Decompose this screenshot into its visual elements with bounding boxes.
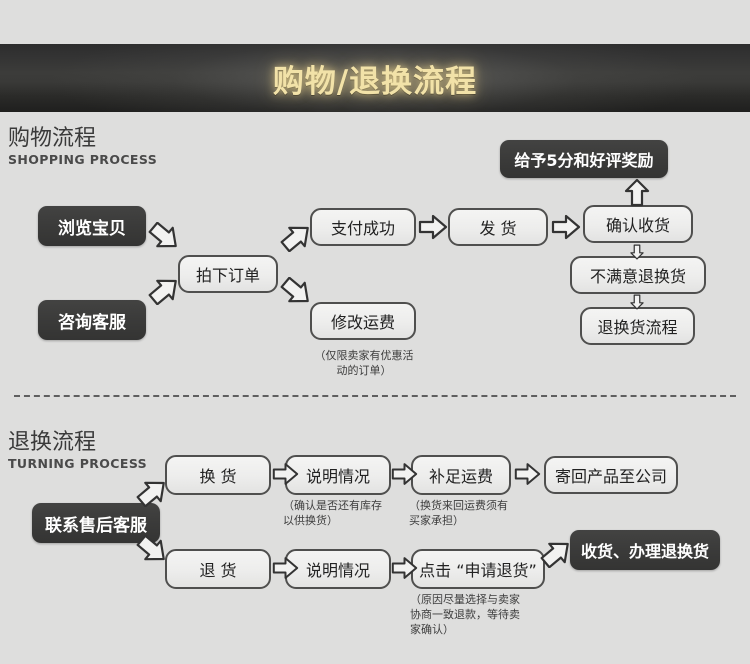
section-heading-shopping-cn: 购物流程 <box>8 126 157 152</box>
arrow-freight-to-sendback-icon <box>514 461 541 487</box>
node-explain-situation-return[interactable]: 说明情况 <box>285 549 391 589</box>
node-return-exchange-flow[interactable]: 退换货流程 <box>580 307 695 345</box>
arrow-exchange-to-explain-icon <box>272 461 299 487</box>
arrow-order-to-modify-freight-icon <box>280 277 314 307</box>
node-give-five-star-reward-label: 给予5分和好评奖励 <box>514 147 653 171</box>
note-explain-situation-exchange: （确认是否还有库存以供换货） <box>283 498 409 528</box>
node-dissatisfied-return-label: 不满意退换货 <box>590 263 686 287</box>
arrow-browse-to-order-icon <box>148 222 182 252</box>
arrow-order-to-pay-icon <box>280 222 314 252</box>
page-header-banner: 购物/退换流程 <box>0 44 750 112</box>
node-explain-situation-exchange[interactable]: 说明情况 <box>285 455 391 495</box>
page-title: 购物/退换流程 <box>273 56 477 101</box>
arrow-return-to-explain-icon <box>272 555 299 581</box>
arrow-confirm-to-dissatisfied-icon <box>623 244 651 260</box>
note-supplement-freight: （换货来回运费须有买家承担） <box>409 498 541 528</box>
node-send-back-to-company-label: 寄回产品至公司 <box>555 463 667 487</box>
arrow-explain-to-apply-icon <box>391 555 418 581</box>
node-place-order-label: 拍下订单 <box>196 262 260 286</box>
node-explain-situation-return-label: 说明情况 <box>306 557 370 581</box>
node-return-goods-label: 退 货 <box>199 557 236 581</box>
node-browse-item[interactable]: 浏览宝贝 <box>38 206 146 246</box>
section-heading-shopping-en: SHOPPING PROCESS <box>8 152 157 167</box>
arrow-consult-to-order-icon <box>148 275 182 305</box>
arrow-ship-to-confirm-icon <box>551 213 581 241</box>
arrow-contact-to-exchange-icon <box>136 477 170 507</box>
node-ship[interactable]: 发 货 <box>448 208 548 246</box>
infographic-page: 购物/退换流程 购物流程 SHOPPING PROCESS 浏览宝贝 咨询客服 … <box>0 0 750 664</box>
node-click-apply-return[interactable]: 点击 “申请退货” <box>411 549 545 589</box>
node-explain-situation-exchange-label: 说明情况 <box>306 463 370 487</box>
arrow-dissatisfied-to-flow-icon <box>623 294 651 310</box>
section-heading-returning-en: TURNING PROCESS <box>8 456 147 471</box>
node-click-apply-return-label: 点击 “申请退货” <box>419 557 537 581</box>
node-place-order[interactable]: 拍下订单 <box>178 255 278 293</box>
node-modify-freight-label: 修改运费 <box>331 309 395 333</box>
node-ship-label: 发 货 <box>479 215 516 239</box>
node-modify-freight[interactable]: 修改运费 <box>310 302 416 340</box>
node-dissatisfied-return[interactable]: 不满意退换货 <box>570 256 706 294</box>
node-confirm-receipt-label: 确认收货 <box>606 212 670 236</box>
arrow-explain-to-freight-icon <box>391 461 418 487</box>
arrow-apply-to-receive-icon <box>540 538 574 568</box>
node-exchange-goods[interactable]: 换 货 <box>165 455 271 495</box>
node-consult-service[interactable]: 咨询客服 <box>38 300 146 340</box>
arrow-contact-to-return-icon <box>136 535 170 565</box>
node-supplement-freight[interactable]: 补足运费 <box>411 455 511 495</box>
section-heading-returning: 退换流程 TURNING PROCESS <box>8 430 147 471</box>
node-browse-item-label: 浏览宝贝 <box>58 214 126 239</box>
section-heading-shopping: 购物流程 SHOPPING PROCESS <box>8 126 157 167</box>
note-modify-freight: （仅限卖家有优惠活动的订单） <box>306 348 422 378</box>
node-return-exchange-flow-label: 退换货流程 <box>597 314 677 338</box>
arrow-confirm-to-reward-icon <box>623 178 651 207</box>
section-divider <box>14 395 736 397</box>
node-receive-and-process-label: 收货、办理退换货 <box>581 538 709 562</box>
node-receive-and-process[interactable]: 收货、办理退换货 <box>570 530 720 570</box>
arrow-pay-to-ship-icon <box>418 213 448 241</box>
node-return-goods[interactable]: 退 货 <box>165 549 271 589</box>
node-supplement-freight-label: 补足运费 <box>429 463 493 487</box>
node-pay-success[interactable]: 支付成功 <box>310 208 416 246</box>
node-pay-success-label: 支付成功 <box>331 215 395 239</box>
section-heading-returning-cn: 退换流程 <box>8 430 147 456</box>
node-confirm-receipt[interactable]: 确认收货 <box>583 205 693 243</box>
node-exchange-goods-label: 换 货 <box>199 463 236 487</box>
node-contact-after-sales-label: 联系售后客服 <box>45 511 147 536</box>
note-click-apply-return: （原因尽量选择与卖家协商一致退款，等待卖家确认） <box>410 592 560 637</box>
node-give-five-star-reward[interactable]: 给予5分和好评奖励 <box>500 140 668 178</box>
node-consult-service-label: 咨询客服 <box>58 308 126 333</box>
node-send-back-to-company[interactable]: 寄回产品至公司 <box>544 456 678 494</box>
